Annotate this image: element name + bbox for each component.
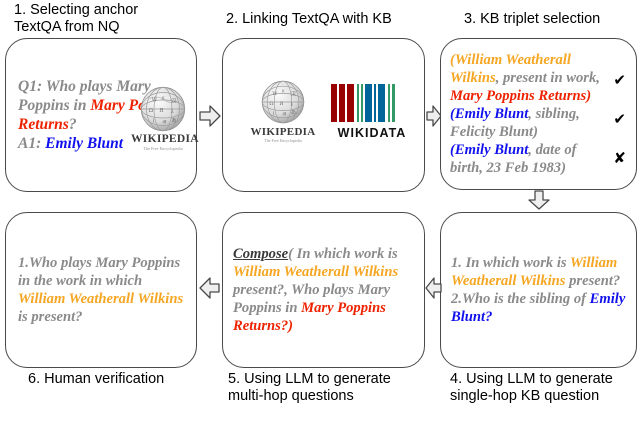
triplet-2-accept-mark: ✔: [613, 110, 626, 128]
caption-step-2: 2. Linking TextQA with KB: [226, 11, 436, 28]
q1-suffix: present?: [565, 273, 620, 289]
arrow-step5-to-step6: [199, 276, 220, 300]
svg-text:अ: अ: [282, 112, 286, 118]
triplet-2-relation: , sibling,: [528, 106, 580, 122]
a1-label: A1:: [18, 135, 41, 152]
kb-triplet-row: (Emily Blunt, date of birth, 23 Feb 1983…: [450, 141, 628, 177]
arrow-down-icon: [527, 190, 551, 210]
triplet-3-subject: Emily Blunt: [455, 142, 528, 158]
wikipedia-wordmark: WIKIPEDIA: [131, 134, 195, 146]
triplet-3-close: ): [561, 160, 566, 176]
triplet-1-relation: , present in work,: [496, 70, 600, 86]
step-4-content: 1. In which work is William Weatherall W…: [441, 213, 636, 367]
step-3-content: (William Weatherall Wilkins, present in …: [441, 39, 636, 189]
step-5-box: Compose( In which work is William Weathe…: [222, 212, 425, 368]
wikidata-logo: WIKIDATA: [331, 84, 413, 140]
triplet-3-reject-mark: ✘: [613, 149, 626, 167]
arrow-left-icon: [425, 276, 442, 300]
svg-text:א: א: [282, 89, 285, 95]
single-hop-question-2: 2.Who is the sibling of Emily Blunt?: [451, 290, 626, 326]
svg-text:ا: ا: [153, 119, 154, 125]
compose-arg1-suffix: present?,: [233, 282, 291, 298]
arrow-step1-to-step2: [199, 104, 221, 128]
compose-arg1-prefix: In which work is: [297, 246, 398, 262]
triplet-1-accept-mark: ✔: [613, 71, 626, 89]
svg-text:Ω: Ω: [269, 101, 273, 107]
step-6-final-question: 1.Who plays Mary Poppins in the work in …: [18, 254, 184, 326]
caption-step-6: 6. Human verification: [28, 371, 213, 388]
final-q-entity: William Weatherall Wilkins: [18, 291, 183, 307]
kb-triplet-row: (Emily Blunt, sibling, Felicity Blunt): [450, 105, 628, 141]
caption-step-1: 1. Selecting anchor TextQA from NQ: [14, 2, 199, 36]
caption-step-4: 4. Using LLM to generate single-hop KB q…: [450, 371, 640, 405]
wikipedia-globe-icon: Wא汉 ΩЯλ اअあ: [245, 79, 321, 125]
triplet-2-subject: Emily Blunt: [455, 106, 528, 122]
caption-step-3: 3. KB triplet selection: [464, 11, 640, 28]
svg-text:ا: ا: [273, 111, 274, 117]
step-1-box: Q1: Who plays Mary Poppins in Mary Poppi…: [5, 38, 197, 192]
kb-triplet-row: (William Weatherall Wilkins, present in …: [450, 51, 628, 105]
triplet-1-close: ): [586, 88, 591, 104]
arrow-step4-to-step5: [425, 276, 442, 300]
wikipedia-wordmark: WIKIPEDIA: [245, 127, 321, 138]
compose-function-label: Compose: [233, 246, 288, 262]
a1-entity-person: Emily Blunt: [45, 135, 123, 152]
wikipedia-logo-step2: Wא汉 ΩЯλ اअあ WIKIPEDIA The Free Encyclope…: [245, 79, 321, 143]
svg-text:Я: Я: [159, 108, 163, 114]
q2-prefix: 2.Who is the sibling of: [451, 291, 590, 307]
caption-step-5: 5. Using LLM to generate multi-hop quest…: [228, 371, 433, 405]
q1-label: Q1:: [18, 78, 42, 95]
svg-text:汉: 汉: [291, 91, 296, 98]
arrow-step3-to-step4: [527, 190, 551, 210]
final-q-suffix: is present?: [18, 309, 82, 325]
arrow-right-icon: [199, 104, 221, 128]
svg-text:W: W: [272, 91, 278, 97]
step-4-box: 1. In which work is William Weatherall W…: [440, 212, 637, 368]
triplet-2-close: ): [533, 124, 538, 140]
wikipedia-tagline: The Free Encyclopedia: [134, 147, 193, 152]
triplet-3-object: 23 Feb 1983: [487, 160, 562, 176]
arrow-left-icon: [199, 276, 220, 300]
step-5-compose-expression: Compose( In which work is William Weathe…: [233, 245, 414, 335]
svg-text:Ω: Ω: [149, 108, 154, 114]
step-4-questions: 1. In which work is William Weatherall W…: [451, 254, 626, 326]
wikidata-wordmark: WIKIDATA: [331, 126, 413, 140]
kb-triplet-list: (William Weatherall Wilkins, present in …: [450, 51, 628, 177]
figure-canvas: 1. Selecting anchor TextQA from NQ 2. Li…: [0, 0, 640, 427]
compose-open-paren: (: [288, 246, 297, 262]
svg-text:あ: あ: [291, 110, 296, 116]
svg-text:W: W: [152, 98, 158, 104]
q1-text-after: ?: [69, 116, 77, 133]
step-6-content: 1.Who plays Mary Poppins in the work in …: [6, 213, 196, 367]
wikipedia-logo-step1: Wא汉 ΩЯλ اअあ WIKIPEDIA The Free Encyclope…: [131, 85, 195, 151]
q1-prefix: 1. In which work is: [451, 255, 570, 271]
triplet-2-object: Felicity Blunt: [450, 124, 533, 140]
single-hop-question-1: 1. In which work is William Weatherall W…: [451, 254, 626, 290]
svg-text:あ: あ: [171, 117, 176, 124]
step-5-content: Compose( In which work is William Weathe…: [223, 213, 424, 367]
compose-arg2-suffix: ?): [281, 318, 293, 334]
wikipedia-globe-icon: Wא汉 ΩЯλ اअあ: [131, 85, 195, 133]
step-6-box: 1.Who plays Mary Poppins in the work in …: [5, 212, 197, 368]
svg-text:Я: Я: [279, 101, 283, 107]
wikidata-barcode-icon: [331, 84, 413, 122]
step-2-box: Wא汉 ΩЯλ اअあ WIKIPEDIA The Free Encyclope…: [222, 38, 425, 192]
wikipedia-tagline: The Free Encyclopedia: [248, 139, 318, 143]
triplet-1-object: Mary Poppins Returns: [450, 88, 586, 104]
final-q-prefix: 1.Who plays Mary Poppins in the work in …: [18, 255, 180, 289]
compose-arg1-entity: William Weatherall Wilkins: [233, 264, 398, 280]
step-3-box: (William Weatherall Wilkins, present in …: [440, 38, 637, 190]
